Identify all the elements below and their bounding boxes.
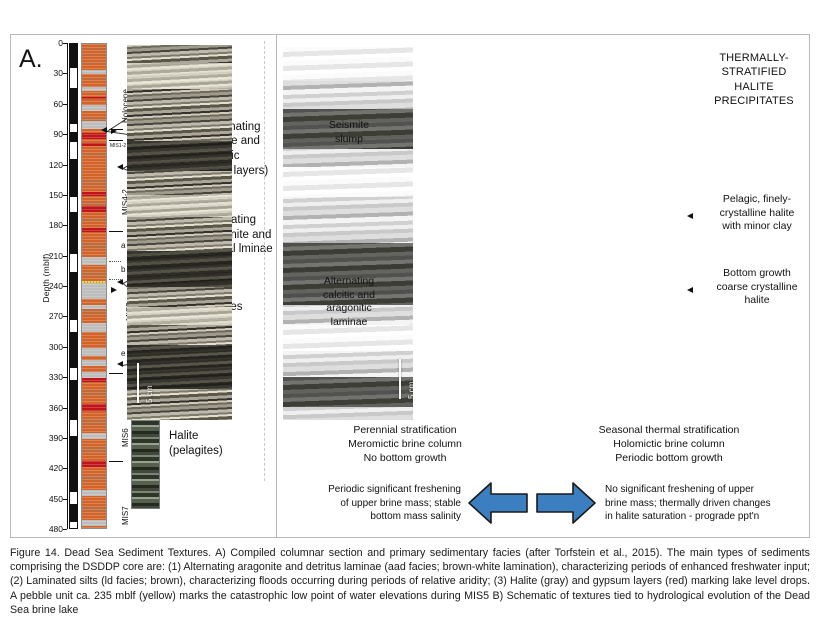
stage-boundary-line — [109, 461, 123, 462]
depth-tick-label: 180 — [49, 220, 63, 230]
lithology-lamina — [82, 266, 106, 267]
lithology-lamina — [82, 194, 106, 195]
lithology-lamina — [82, 281, 106, 282]
lithology-lamina — [82, 425, 106, 426]
lithology-lamina — [82, 212, 106, 213]
lithology-lamina — [82, 236, 106, 237]
lithology-lamina — [82, 332, 106, 333]
lithology-lamina — [82, 506, 106, 507]
depth-tick-mark — [63, 468, 67, 469]
lithology-lamina — [82, 179, 106, 180]
lithology-lamina — [82, 221, 106, 222]
lithology-lamina — [82, 524, 106, 525]
lithology-lamina — [82, 320, 106, 321]
lithology-lamina — [82, 497, 106, 498]
lithology-lamina — [82, 101, 106, 102]
lithology-lamina — [82, 170, 106, 171]
lithology-lamina — [82, 353, 106, 354]
recovery-segment — [70, 212, 77, 254]
depth-tick-mark — [63, 256, 67, 257]
lithology-lamina — [82, 317, 106, 318]
lithology-lamina — [82, 380, 106, 381]
summary-right-seasonal: Seasonal thermal stratification Holomict… — [545, 423, 793, 466]
recovery-segment — [70, 88, 77, 124]
summary-left-perennial: Perennial stratification Meromictic brin… — [289, 423, 521, 466]
lithology-lamina — [82, 188, 106, 189]
depth-tick-mark — [63, 408, 67, 409]
conclusion-right-text: No significant freshening of upper brine… — [605, 483, 801, 524]
lithology-lamina — [82, 95, 106, 96]
depth-tick-label: 390 — [49, 433, 63, 443]
lithology-lamina — [82, 68, 106, 69]
lithology-lamina — [82, 248, 106, 249]
lithology-lamina — [82, 296, 106, 297]
stage-boundary-line — [109, 373, 123, 374]
lithology-column — [81, 43, 107, 529]
lithology-lamina — [82, 287, 106, 288]
lithology-lamina — [82, 191, 106, 192]
depth-tick-mark — [63, 195, 67, 196]
lithology-lamina — [82, 350, 106, 351]
photo-band-dark — [127, 251, 232, 287]
lithology-lamina — [82, 416, 106, 417]
label-seismite-slump: Seismite slump — [309, 119, 389, 146]
lithology-lamina — [82, 203, 106, 204]
lithology-lamina — [82, 299, 106, 300]
lithology-lamina — [82, 308, 106, 309]
lithology-lamina — [82, 509, 106, 510]
lithology-lamina — [82, 338, 106, 339]
seismite-slump-arrow-icon — [111, 128, 117, 134]
lithology-lamina — [82, 146, 106, 147]
lithology-lamina — [82, 107, 106, 108]
lithology-lamina — [82, 305, 106, 306]
lithology-lamina — [82, 59, 106, 60]
depth-tick-mark — [63, 73, 67, 74]
stage-label-e: e — [121, 349, 125, 358]
lithology-lamina — [82, 110, 106, 111]
panel-b-right-header: THERMALLY- STRATIFIED HALITE PRECIPITATE… — [701, 51, 807, 108]
depth-tick-label: 450 — [49, 494, 63, 504]
lithology-lamina — [82, 56, 106, 57]
core-photo-carbonate-pelagites: 5 cm — [127, 45, 232, 420]
alternating-laminae-arrow-icon — [111, 287, 117, 293]
lithology-lamina — [82, 47, 106, 48]
lithology-lamina — [82, 476, 106, 477]
depth-tick-label: 60 — [54, 99, 63, 109]
recovery-segment — [70, 332, 77, 368]
lithology-lamina — [82, 257, 106, 258]
scale-bar-left-label: 5 cm — [145, 386, 154, 403]
scale-bar-right-label: 5 cm — [407, 382, 413, 399]
stage-label-a: a — [121, 241, 125, 250]
lithology-lamina — [82, 167, 106, 168]
lithology-lamina — [82, 473, 106, 474]
lithology-lamina — [82, 488, 106, 489]
depth-tick-mark — [63, 165, 67, 166]
leader-arrow-icon — [117, 361, 123, 367]
lithology-lamina — [82, 224, 106, 225]
lithology-lamina — [82, 368, 106, 369]
lithology-lamina — [82, 149, 106, 150]
lithology-lamina — [82, 464, 106, 465]
lithology-lamina — [82, 515, 106, 516]
lithology-lamina — [82, 185, 106, 186]
depth-tick-mark — [63, 225, 67, 226]
lithology-lamina — [82, 461, 106, 462]
lithology-lamina — [82, 335, 106, 336]
annotation-halite-pelagites: Halite (pelagites) — [169, 429, 243, 458]
lithology-lamina — [82, 272, 106, 273]
stage-label-b: b — [121, 265, 125, 274]
lithology-lamina — [82, 134, 106, 135]
lithology-lamina — [82, 206, 106, 207]
lithology-lamina — [82, 344, 106, 345]
depth-tick-label: 210 — [49, 251, 63, 261]
blue-arrow-right-icon — [535, 481, 597, 525]
lithology-lamina — [82, 278, 106, 279]
depth-tick-label: 300 — [49, 342, 63, 352]
leader-arrow-icon — [117, 279, 123, 285]
lithology-lamina — [82, 62, 106, 63]
lithology-lamina — [82, 293, 106, 294]
recovery-segment — [70, 272, 77, 320]
scale-bar-left — [137, 363, 139, 403]
lithology-lamina — [82, 431, 106, 432]
depth-tick-mark — [63, 499, 67, 500]
depth-tick-mark — [63, 104, 67, 105]
lithology-lamina — [82, 485, 106, 486]
figure-caption: Figure 14. Dead Sea Sediment Textures. A… — [10, 546, 810, 617]
figure-frame: A. Depth (mblf) 030609012015018021024027… — [10, 34, 810, 538]
depth-tick-mark — [63, 286, 67, 287]
lithology-lamina — [82, 404, 106, 405]
stage-boundary-line — [109, 140, 123, 141]
lithology-lamina — [82, 419, 106, 420]
lithology-lamina — [82, 500, 106, 501]
depth-tick-label: 240 — [49, 281, 63, 291]
lithology-band-aad — [82, 411, 106, 419]
lithology-lamina — [82, 518, 106, 519]
depth-tick-mark — [63, 43, 67, 44]
lithology-lamina — [82, 455, 106, 456]
lithology-lamina — [82, 245, 106, 246]
lithology-lamina — [82, 410, 106, 411]
label-bottom-growth-coarse-halite: Bottom growth coarse crystalline halite — [703, 267, 811, 308]
lithology-lamina — [82, 413, 106, 414]
lithology-lamina — [82, 443, 106, 444]
lithology-lamina — [82, 173, 106, 174]
lithology-lamina — [82, 176, 106, 177]
lithology-lamina — [82, 446, 106, 447]
lithology-lamina — [82, 53, 106, 54]
lithology-lamina — [82, 482, 106, 483]
lithology-band-aad — [82, 467, 106, 475]
lithology-lamina — [82, 437, 106, 438]
depth-axis-title: Depth (mblf) — [41, 233, 51, 323]
lithology-lamina — [82, 374, 106, 375]
depth-tick-label: 30 — [54, 68, 63, 78]
stage-label-mis6: MIS6 — [121, 428, 130, 447]
photo-band-light — [127, 307, 232, 325]
lithology-band-aad — [82, 249, 106, 257]
lithology-lamina — [82, 263, 106, 264]
stage-label-mis7: MIS7 — [121, 506, 130, 525]
lithology-lamina — [82, 251, 106, 252]
bottom-growth-arrow-icon — [687, 287, 693, 293]
lithology-lamina — [82, 152, 106, 153]
lithology-lamina — [82, 77, 106, 78]
recovery-segment — [70, 436, 77, 492]
lithology-band-halite — [82, 323, 106, 331]
leader-arrow-icon — [101, 127, 107, 133]
lithology-lamina — [82, 383, 106, 384]
lithology-lamina — [82, 197, 106, 198]
lithology-lamina — [82, 371, 106, 372]
lithology-lamina — [82, 377, 106, 378]
depth-axis-line — [67, 43, 68, 529]
depth-tick-label: 270 — [49, 311, 63, 321]
lithology-lamina — [82, 218, 106, 219]
lithology-lamina — [82, 233, 106, 234]
lithology-lamina — [82, 86, 106, 87]
lithology-lamina — [82, 269, 106, 270]
lithology-lamina — [82, 521, 106, 522]
lithology-lamina — [82, 164, 106, 165]
stage-label-mis1-2: MIS1-2 — [110, 143, 126, 149]
depth-tick-mark — [63, 438, 67, 439]
photo-band-very-light — [283, 47, 413, 81]
lithology-lamina — [82, 326, 106, 327]
lithology-lamina — [82, 290, 106, 291]
lithology-lamina — [82, 323, 106, 324]
lithology-lamina — [82, 479, 106, 480]
lithology-lamina — [82, 116, 106, 117]
lithology-lamina — [82, 434, 106, 435]
recovery-segment — [70, 159, 77, 197]
lithology-lamina — [82, 389, 106, 390]
lithology-lamina — [82, 98, 106, 99]
lithology-lamina — [82, 113, 106, 114]
lithology-lamina — [82, 428, 106, 429]
lithology-lamina — [82, 92, 106, 93]
depth-tick-mark — [63, 377, 67, 378]
lithology-lamina — [82, 467, 106, 468]
photo-band-dark — [127, 345, 232, 389]
lithology-lamina — [82, 161, 106, 162]
lithology-lamina — [82, 452, 106, 453]
lithology-lamina — [82, 449, 106, 450]
lithology-lamina — [82, 359, 106, 360]
lithology-lamina — [82, 503, 106, 504]
lithology-lamina — [82, 230, 106, 231]
lithology-lamina — [82, 347, 106, 348]
lithology-lamina — [82, 362, 106, 363]
lithology-lamina — [82, 314, 106, 315]
lithology-lamina — [82, 407, 106, 408]
panel-divider — [276, 35, 277, 537]
lithology-lamina — [82, 155, 106, 156]
lithology-lamina — [82, 401, 106, 402]
lithology-lamina — [82, 311, 106, 312]
lithology-lamina — [82, 242, 106, 243]
lithology-lamina — [82, 83, 106, 84]
depth-tick-label: 480 — [49, 524, 63, 534]
lithology-lamina — [82, 260, 106, 261]
lithology-lamina — [82, 275, 106, 276]
lithology-lamina — [82, 158, 106, 159]
lithology-lamina — [82, 527, 106, 528]
lithology-lamina — [82, 239, 106, 240]
lithology-lamina — [82, 50, 106, 51]
leader-arrow-icon — [117, 164, 123, 170]
lithology-lamina — [82, 104, 106, 105]
lithology-lamina — [82, 422, 106, 423]
lithology-lamina — [82, 470, 106, 471]
lithology-lamina — [82, 215, 106, 216]
recovery-segment — [70, 44, 77, 68]
lithology-lamina — [82, 398, 106, 399]
lithology-lamina — [82, 65, 106, 66]
depth-tick-label: 120 — [49, 160, 63, 170]
photo-band-light — [127, 195, 232, 217]
recovery-segment — [70, 504, 77, 522]
stage-boundary-line — [109, 261, 121, 262]
lithology-lamina — [82, 125, 106, 126]
depth-tick-label: 330 — [49, 372, 63, 382]
core-photo-halite-precipitates: 5 cm — [283, 47, 413, 420]
lithology-lamina — [82, 440, 106, 441]
blue-arrow-left-icon — [467, 481, 529, 525]
lithology-lamina — [82, 458, 106, 459]
lithology-lamina — [82, 395, 106, 396]
lithology-lamina — [82, 341, 106, 342]
depth-axis: Depth (mblf) 030609012015018021024027030… — [15, 43, 71, 529]
label-pelagic-halite-minor-clay: Pelagic, finely- crystalline halite with… — [703, 193, 811, 234]
lithology-band-halite — [82, 348, 106, 356]
lithology-lamina — [82, 227, 106, 228]
lithology-lamina — [82, 284, 106, 285]
lithology-lamina — [82, 122, 106, 123]
panel-b-scenario-divider — [264, 41, 265, 481]
scale-bar-right — [399, 359, 401, 399]
lithology-lamina — [82, 143, 106, 144]
lithology-lamina — [82, 302, 106, 303]
lithology-lamina — [82, 494, 106, 495]
photo-band-very-light — [283, 167, 413, 197]
lithology-lamina — [82, 80, 106, 81]
lithology-lamina — [82, 356, 106, 357]
lithology-lamina — [82, 329, 106, 330]
lithology-lamina — [82, 74, 106, 75]
lithology-lamina — [82, 140, 106, 141]
lithology-lamina — [82, 71, 106, 72]
photo-band-light — [127, 63, 232, 89]
lithology-lamina — [82, 119, 106, 120]
figure-14-dead-sea-sediment-textures: A. Depth (mblf) 030609012015018021024027… — [0, 0, 820, 633]
depth-tick-label: 150 — [49, 190, 63, 200]
lithology-lamina — [82, 254, 106, 255]
lithology-lamina — [82, 209, 106, 210]
lithology-lamina — [82, 182, 106, 183]
depth-tick-mark — [63, 316, 67, 317]
photo-band-dark — [283, 377, 413, 407]
depth-tick-mark — [63, 134, 67, 135]
stage-boundary-line — [109, 231, 123, 232]
lithology-lamina — [82, 491, 106, 492]
pelagic-halite-arrow-icon — [687, 213, 693, 219]
conclusion-left-text: Periodic significant freshening of upper… — [289, 483, 461, 524]
lithology-lamina — [82, 137, 106, 138]
core-recovery-bar — [69, 43, 78, 529]
recovery-segment — [70, 132, 77, 142]
lithology-lamina — [82, 44, 106, 45]
lithology-lamina — [82, 392, 106, 393]
lithology-lamina — [82, 89, 106, 90]
depth-tick-label: 420 — [49, 463, 63, 473]
photo-band-dark — [127, 141, 232, 171]
lithology-lamina — [82, 386, 106, 387]
depth-tick-mark — [63, 529, 67, 530]
depth-tick-label: 360 — [49, 403, 63, 413]
lithology-lamina — [82, 512, 106, 513]
depth-tick-mark — [63, 347, 67, 348]
label-alternating-calcitic-aragonitic: Alternating calcitic and aragonitic lami… — [307, 275, 391, 330]
depth-tick-label: 90 — [54, 129, 63, 139]
lithology-lamina — [82, 365, 106, 366]
lithology-lamina — [82, 200, 106, 201]
recovery-segment — [70, 380, 77, 420]
